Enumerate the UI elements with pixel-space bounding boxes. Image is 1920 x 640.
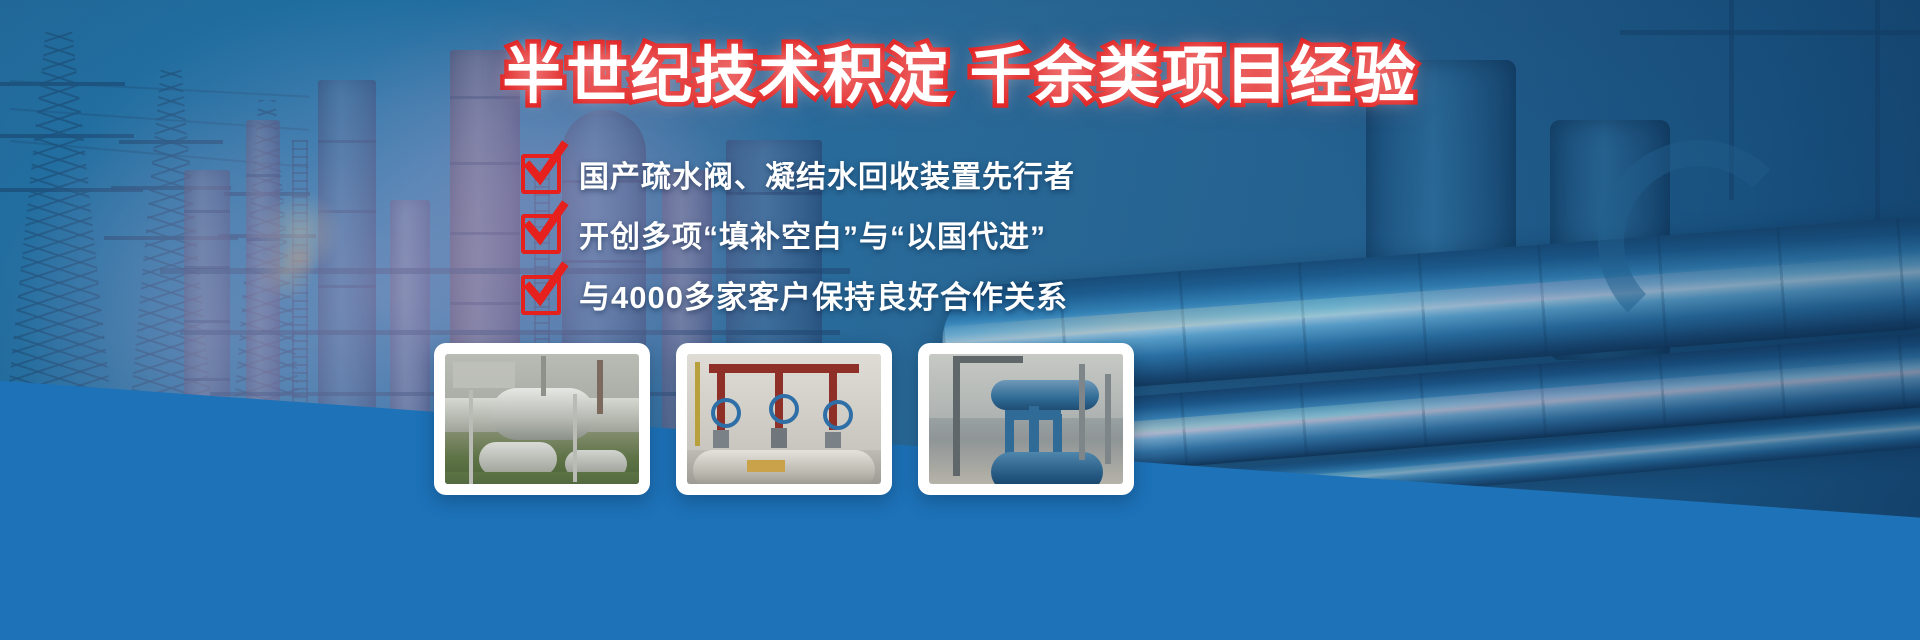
checkbox-checked-icon xyxy=(521,275,561,315)
list-item-label: 与4000多家客户保持良好合作关系 xyxy=(579,272,1068,317)
promo-banner: 半世纪技术积淀 千余类项目经验 国产疏水阀、凝结水回收装置先行者 开创多项“填补… xyxy=(0,0,1920,640)
list-item-label: 国产疏水阀、凝结水回收装置先行者 xyxy=(579,152,1075,196)
page-title: 半世纪技术积淀 千余类项目经验 xyxy=(0,42,1920,111)
list-item: 国产疏水阀、凝结水回收装置先行者 xyxy=(521,152,1075,196)
feature-list: 国产疏水阀、凝结水回收装置先行者 开创多项“填补空白”与“以国代进” 与4000… xyxy=(521,152,1075,317)
checkbox-checked-icon xyxy=(521,214,561,254)
list-item: 与4000多家客户保持良好合作关系 xyxy=(521,272,1075,317)
photo-card-list xyxy=(434,343,1134,495)
photo-card-2[interactable] xyxy=(676,343,892,495)
equipment-photo-1 xyxy=(445,354,639,484)
equipment-photo-2 xyxy=(687,354,881,484)
checkbox-checked-icon xyxy=(521,154,561,194)
list-item: 开创多项“填补空白”与“以国代进” xyxy=(521,212,1075,256)
list-item-label: 开创多项“填补空白”与“以国代进” xyxy=(579,212,1046,256)
photo-card-1[interactable] xyxy=(434,343,650,495)
photo-card-3[interactable] xyxy=(918,343,1134,495)
equipment-photo-3 xyxy=(929,354,1123,484)
